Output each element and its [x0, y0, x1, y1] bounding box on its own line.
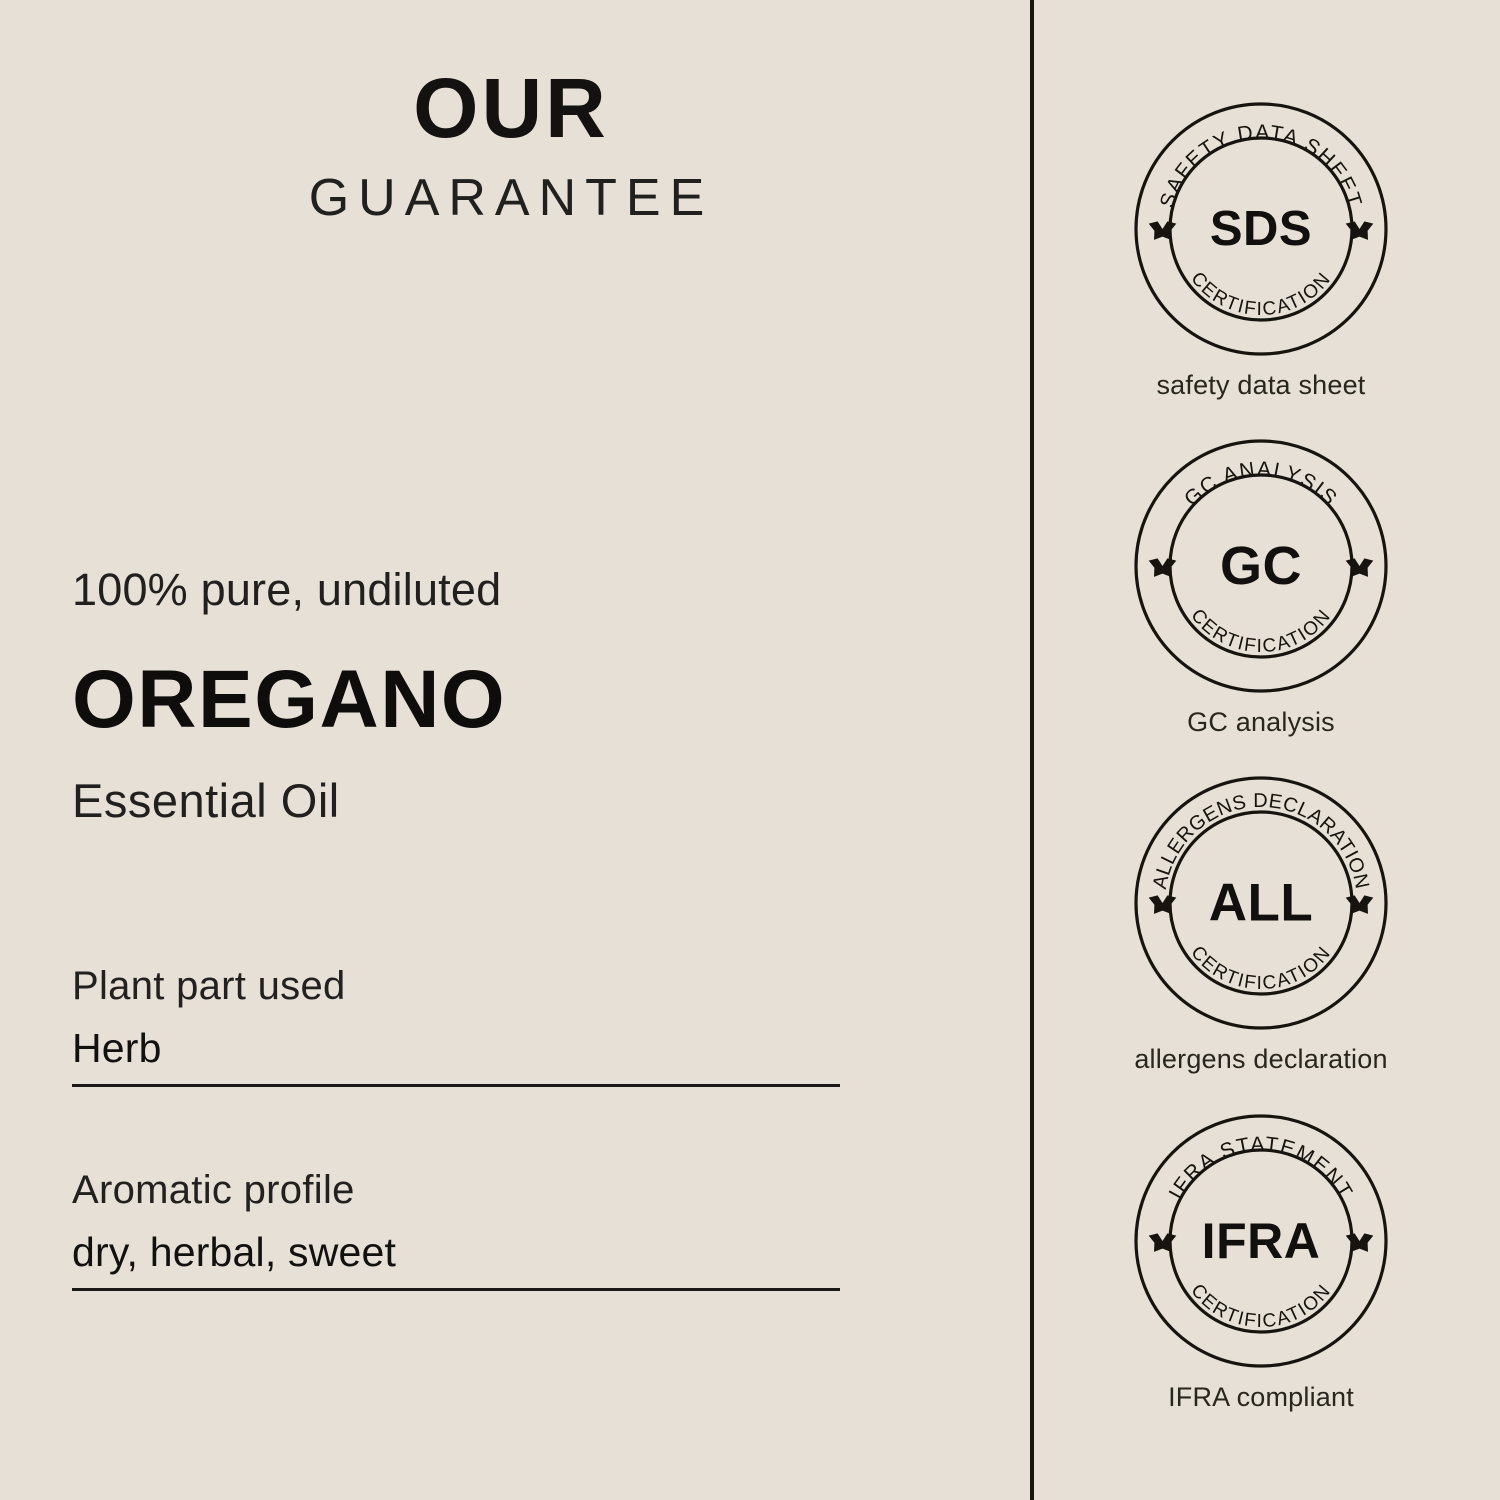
certification-badge-list: SAFETY DATA SHEET CERTIFICATION SDS safe…: [1022, 0, 1500, 1500]
star-right-icon: [1346, 895, 1374, 914]
seal-abbreviation: IFRA: [1202, 1213, 1321, 1269]
page-title: OUR: [0, 66, 1022, 150]
spec-label: Plant part used: [72, 963, 840, 1009]
certification-badge-ifra: IFRA STATEMENT CERTIFICATION IFRA IFRA c…: [1022, 1113, 1500, 1413]
spec-row-aromatic-profile: Aromatic profile dry, herbal, sweet: [72, 1167, 840, 1291]
star-left-icon: [1149, 895, 1177, 914]
star-right-icon: [1346, 1233, 1374, 1252]
seal-ifra-icon: IFRA STATEMENT CERTIFICATION IFRA: [1133, 1113, 1389, 1369]
certification-badge-gc: GC ANALYSIS CERTIFICATION GC GC analysis: [1022, 438, 1500, 738]
purity-statement: 100% pure, undiluted: [72, 565, 932, 615]
badge-caption: safety data sheet: [1022, 371, 1500, 401]
seal-bottom-text: CERTIFICATION: [1186, 268, 1335, 320]
star-right-icon: [1346, 221, 1374, 240]
page-subtitle: GUARANTEE: [0, 172, 1022, 224]
seal-abbreviation: SDS: [1210, 202, 1312, 256]
seal-gc-icon: GC ANALYSIS CERTIFICATION GC: [1133, 438, 1389, 694]
badge-caption: allergens declaration: [1022, 1045, 1500, 1075]
certification-badge-sds: SAFETY DATA SHEET CERTIFICATION SDS safe…: [1022, 101, 1500, 401]
seal-bottom-text: CERTIFICATION: [1186, 605, 1335, 657]
star-left-icon: [1149, 1233, 1177, 1252]
product-type: Essential Oil: [72, 775, 932, 827]
seal-top-text: SAFETY DATA SHEET: [1156, 121, 1366, 211]
seal-abbreviation: GC: [1220, 536, 1302, 596]
svg-text:CERTIFICATION: CERTIFICATION: [1186, 605, 1335, 657]
svg-text:SAFETY DATA SHEET: SAFETY DATA SHEET: [1156, 121, 1366, 211]
spec-list: Plant part used Herb Aromatic profile dr…: [72, 963, 840, 1291]
svg-text:CERTIFICATION: CERTIFICATION: [1186, 268, 1335, 320]
product-name: OREGANO: [72, 657, 932, 743]
seal-abbreviation: ALL: [1209, 874, 1314, 933]
svg-text:CERTIFICATION: CERTIFICATION: [1186, 1280, 1335, 1332]
certification-badge-allergens: ALLERGENS DECLARATION CERTIFICATION ALL …: [1022, 775, 1500, 1075]
seal-sds-icon: SAFETY DATA SHEET CERTIFICATION SDS: [1133, 101, 1389, 357]
spec-value: dry, herbal, sweet: [72, 1229, 840, 1276]
seal-bottom-text: CERTIFICATION: [1186, 1280, 1335, 1332]
spec-row-plant-part: Plant part used Herb: [72, 963, 840, 1087]
seal-top-text: IFRA STATEMENT: [1165, 1133, 1358, 1203]
page-heading: OUR GUARANTEE: [0, 66, 1022, 224]
seal-top-text: GC ANALYSIS: [1180, 458, 1342, 511]
left-panel: OUR GUARANTEE 100% pure, undiluted OREGA…: [0, 0, 1022, 1500]
star-left-icon: [1149, 558, 1177, 577]
badge-caption: GC analysis: [1022, 708, 1500, 738]
svg-text:IFRA STATEMENT: IFRA STATEMENT: [1165, 1133, 1358, 1203]
svg-text:CERTIFICATION: CERTIFICATION: [1186, 942, 1335, 994]
seal-bottom-text: CERTIFICATION: [1186, 942, 1335, 994]
product-identity: 100% pure, undiluted OREGANO Essential O…: [72, 565, 932, 826]
spec-label: Aromatic profile: [72, 1167, 840, 1213]
star-left-icon: [1149, 221, 1177, 240]
badge-caption: IFRA compliant: [1022, 1383, 1500, 1413]
svg-text:GC ANALYSIS: GC ANALYSIS: [1180, 458, 1342, 511]
guarantee-infographic: OUR GUARANTEE 100% pure, undiluted OREGA…: [0, 0, 1500, 1500]
star-right-icon: [1346, 558, 1374, 577]
spec-value: Herb: [72, 1025, 840, 1072]
right-panel: SAFETY DATA SHEET CERTIFICATION SDS safe…: [1022, 0, 1500, 1500]
seal-all-icon: ALLERGENS DECLARATION CERTIFICATION ALL: [1133, 775, 1389, 1031]
